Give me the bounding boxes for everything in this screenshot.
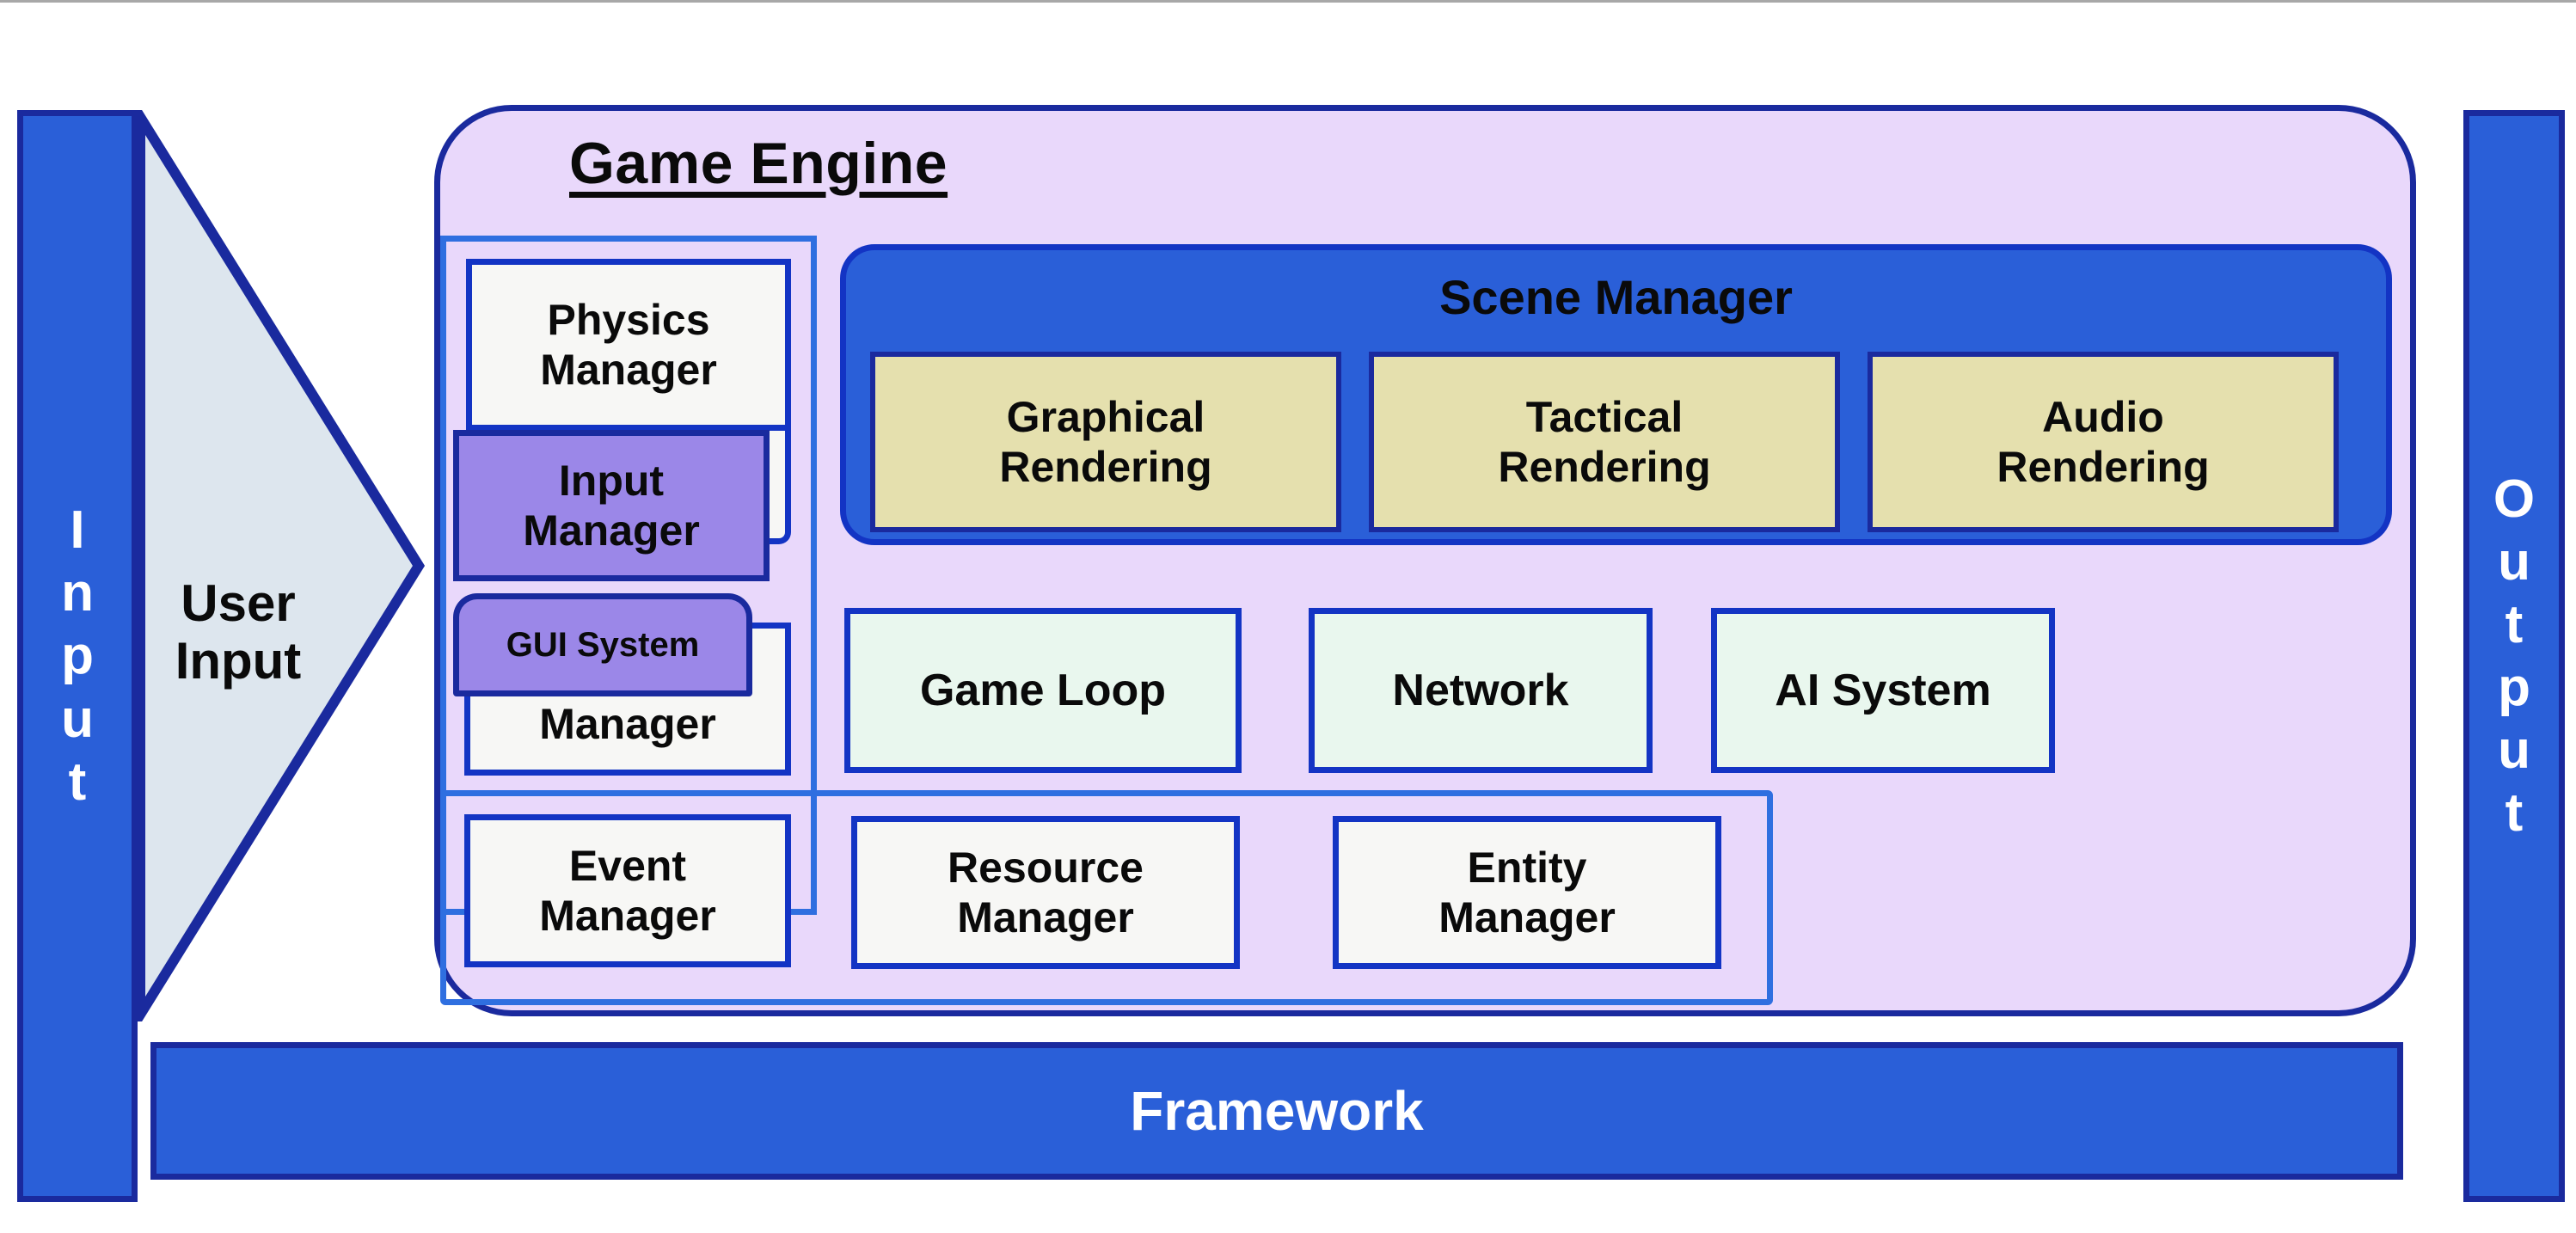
tactical-rendering-line2: Rendering [1498, 442, 1710, 492]
resource-manager-line1: Resource [948, 843, 1144, 893]
graphical-rendering[interactable]: Graphical Rendering [870, 352, 1341, 532]
scene-manager-container: Scene Manager Graphical Rendering Tactic… [840, 244, 2392, 545]
output-letter-5: t [2505, 782, 2524, 844]
gui-system-label: GUI System [506, 625, 700, 665]
diagram-canvas: I n p u t User Input Game Engine Physics… [0, 0, 2576, 1233]
input-letter-0: I [70, 499, 84, 561]
user-input-label: User Input [144, 574, 333, 690]
page-title: Game Engine [569, 130, 948, 197]
output-letter-2: t [2505, 593, 2524, 656]
input-letter-1: n [61, 561, 94, 624]
audio-rendering[interactable]: Audio Rendering [1868, 352, 2339, 532]
audio-rendering-line2: Rendering [1996, 442, 2209, 492]
framework-bar[interactable]: Framework [150, 1042, 2403, 1180]
event-manager-line2: Manager [539, 891, 716, 941]
input-column[interactable]: I n p u t [17, 110, 138, 1202]
physics-manager-line1: Physics [547, 295, 709, 345]
physics-manager[interactable]: Physics Manager [466, 259, 791, 431]
ai-system-label: AI System [1775, 665, 1990, 716]
game-loop[interactable]: Game Loop [844, 608, 1242, 773]
entity-manager-line2: Manager [1438, 893, 1616, 942]
output-letter-3: p [2498, 656, 2530, 719]
physics-manager-line2: Manager [540, 345, 717, 395]
framework-label: Framework [1130, 1079, 1423, 1143]
input-manager-line2: Manager [523, 506, 700, 555]
audio-rendering-line1: Audio [2042, 392, 2164, 442]
output-column[interactable]: O u t p u t [2463, 110, 2565, 1202]
input-manager-line1: Input [559, 456, 664, 506]
resource-manager-line2: Manager [957, 893, 1134, 942]
ai-system[interactable]: AI System [1711, 608, 2055, 773]
event-manager[interactable]: Event Manager [464, 814, 791, 967]
user-input-line2: Input [175, 632, 302, 690]
entity-manager-line1: Entity [1468, 843, 1587, 893]
input-letter-4: t [69, 751, 87, 813]
input-letter-2: p [61, 624, 94, 687]
user-input-triangle[interactable]: User Input [133, 110, 426, 1021]
tactical-rendering[interactable]: Tactical Rendering [1369, 352, 1840, 532]
tactical-rendering-line1: Tactical [1526, 392, 1684, 442]
graphical-rendering-line1: Graphical [1007, 392, 1205, 442]
network-label: Network [1392, 665, 1568, 716]
entity-manager[interactable]: Entity Manager [1333, 816, 1721, 969]
output-letter-0: O [2493, 468, 2535, 531]
gui-system[interactable]: GUI System [453, 593, 752, 696]
resource-manager[interactable]: Resource Manager [851, 816, 1240, 969]
game-loop-label: Game Loop [920, 665, 1166, 716]
scene-manager-title: Scene Manager [846, 269, 2386, 325]
user-input-triangle-shape [133, 110, 426, 1021]
output-letter-4: u [2498, 719, 2530, 782]
network[interactable]: Network [1309, 608, 1653, 773]
error-manager-line2: Manager [539, 699, 716, 749]
graphical-rendering-line2: Rendering [999, 442, 1211, 492]
event-manager-line1: Event [569, 841, 686, 891]
top-divider-line [0, 0, 2576, 3]
output-letter-1: u [2498, 531, 2530, 593]
input-manager[interactable]: Input Manager [453, 430, 770, 581]
input-letter-3: u [61, 688, 94, 751]
user-input-line1: User [181, 574, 295, 632]
